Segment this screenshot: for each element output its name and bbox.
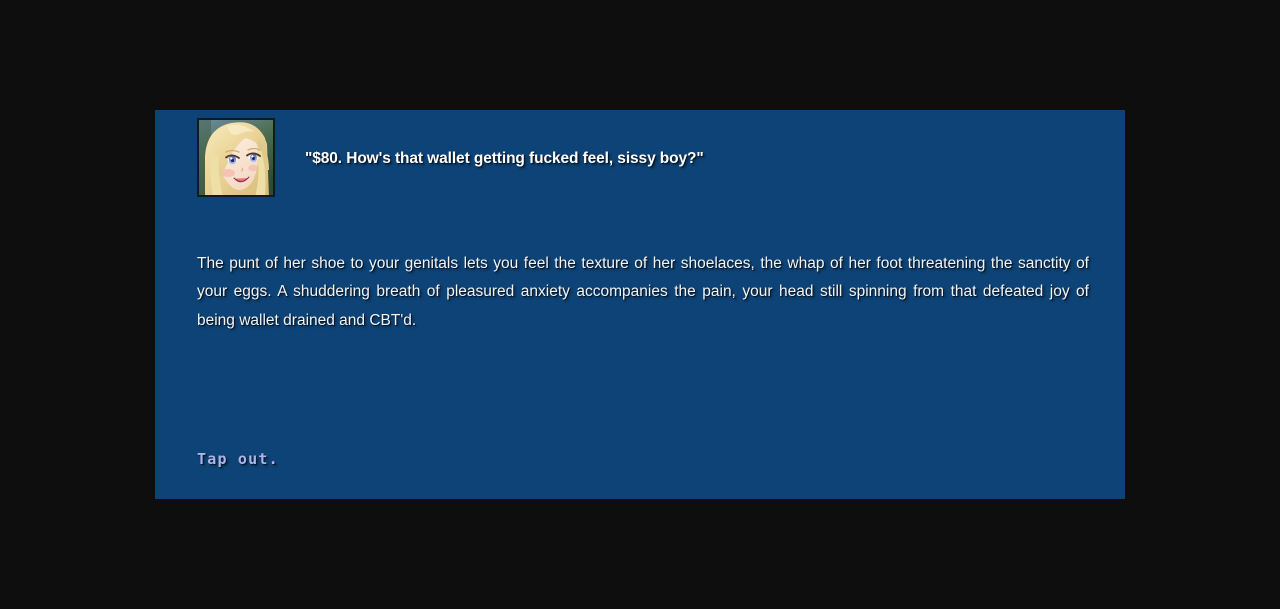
choice-tap-out[interactable]: Tap out. <box>197 450 279 468</box>
speaker-row: "$80. How's that wallet getting fucked f… <box>197 118 1097 206</box>
narration-text: The punt of her shoe to your genitals le… <box>197 250 1089 335</box>
choice-list: Tap out. <box>197 450 1089 469</box>
scene-stage: "$80. How's that wallet getting fucked f… <box>0 0 1280 609</box>
character-portrait-icon <box>197 118 275 197</box>
dialogue-panel: "$80. How's that wallet getting fucked f… <box>155 110 1125 499</box>
speaker-dialogue-text: "$80. How's that wallet getting fucked f… <box>305 150 1095 168</box>
avatar <box>197 118 275 197</box>
